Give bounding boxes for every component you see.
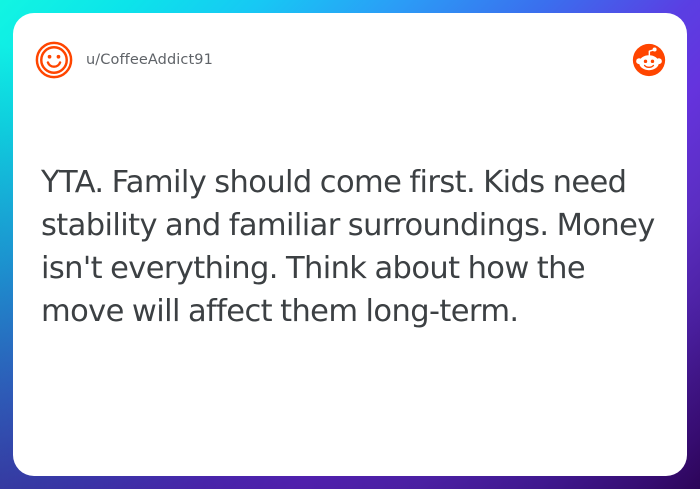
card-header: u/CoffeeAddict91 [13, 13, 687, 107]
author-block[interactable]: u/CoffeeAddict91 [35, 41, 632, 79]
smiley-face-avatar-icon[interactable] [35, 41, 73, 79]
comment-card: u/CoffeeAddict91 YTA. Family shoul [13, 13, 687, 476]
post-card-root: u/CoffeeAddict91 YTA. Family shoul [0, 0, 700, 489]
reddit-snoo-icon[interactable] [632, 43, 666, 77]
comment-body-text: YTA. Family should come first. Kids need… [41, 161, 661, 333]
author-username: u/CoffeeAddict91 [86, 52, 213, 68]
